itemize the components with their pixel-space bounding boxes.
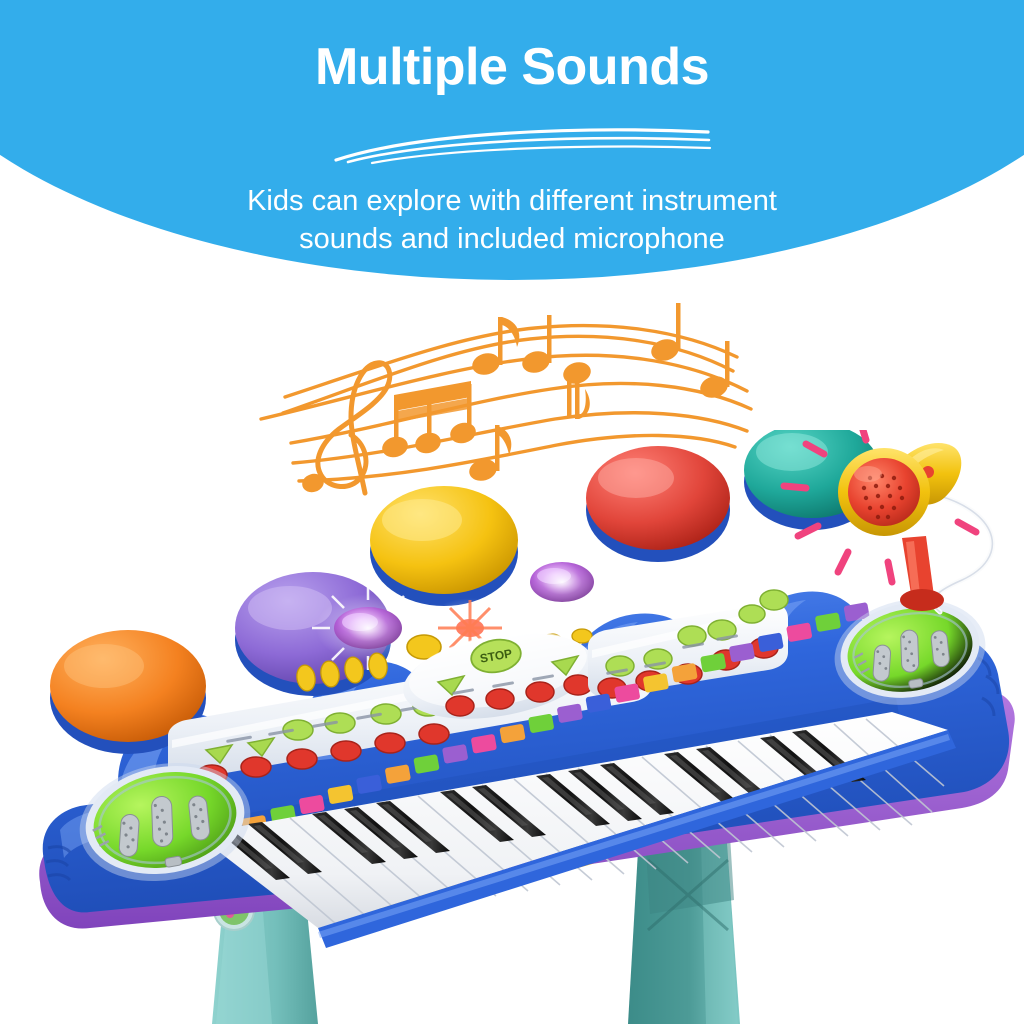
subtitle-line-1: Kids can explore with different instrume…	[112, 182, 912, 220]
subtitle-line-2: sounds and included microphone	[112, 220, 912, 258]
product-photo-keyboard: STOP	[0, 430, 1024, 1024]
page-title: Multiple Sounds	[0, 40, 1024, 95]
microphone-stand	[900, 536, 944, 611]
microphone-cord	[933, 496, 992, 612]
light-button-purple-2[interactable]	[512, 544, 612, 620]
drum-pad-yellow[interactable]	[370, 486, 518, 606]
microphone-head	[848, 458, 920, 526]
product-feature-image: Multiple Sounds Kids can explore with di…	[0, 0, 1024, 1024]
drum-pad-red[interactable]	[586, 446, 730, 562]
header-banner: Multiple Sounds Kids can explore with di…	[0, 0, 1024, 280]
swoosh-decoration	[332, 118, 712, 166]
panel-right-green-top-button[interactable]	[760, 590, 788, 610]
page-subtitle: Kids can explore with different instrume…	[112, 182, 912, 259]
